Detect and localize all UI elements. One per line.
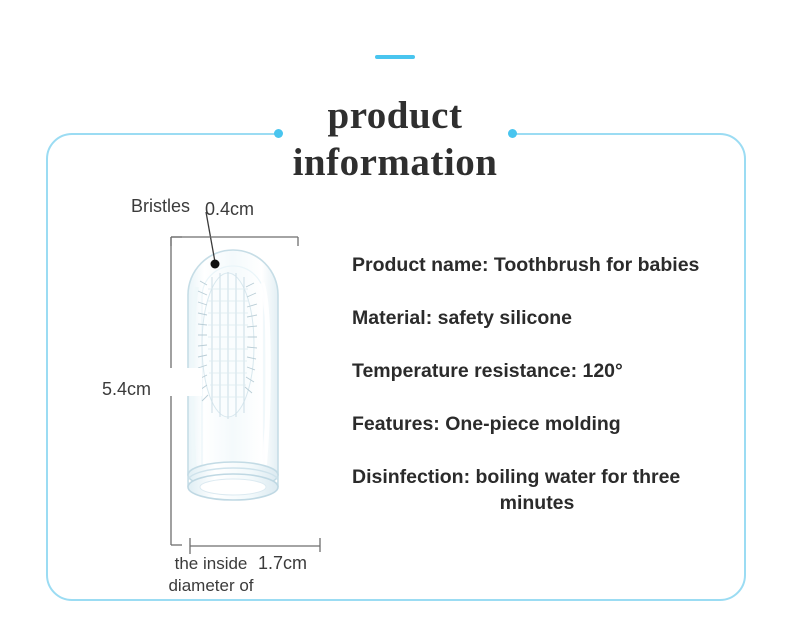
- spec-disinfection-line1: Disinfection: boiling water for three: [352, 466, 680, 488]
- spec-disinfection: Disinfection: boiling water for three mi…: [352, 464, 752, 516]
- spec-product-name: Product name: Toothbrush for babies: [352, 252, 752, 278]
- label-diameter-caption: the inside diameter of: [163, 553, 259, 597]
- spec-disinfection-line2: minutes: [352, 490, 752, 516]
- spec-features: Features: One-piece molding: [352, 411, 752, 437]
- label-diameter-measure: 1.7cm: [258, 553, 307, 574]
- spec-temperature: Temperature resistance: 120°: [352, 358, 752, 384]
- spec-list: Product name: Toothbrush for babies Mate…: [352, 252, 752, 543]
- label-bristles: Bristles: [131, 196, 190, 217]
- spec-material: Material: safety silicone: [352, 305, 752, 331]
- product-information-page: product information: [0, 0, 790, 624]
- label-height-measure: 5.4cm: [102, 379, 151, 400]
- label-tip-measure: 0.4cm: [205, 199, 254, 220]
